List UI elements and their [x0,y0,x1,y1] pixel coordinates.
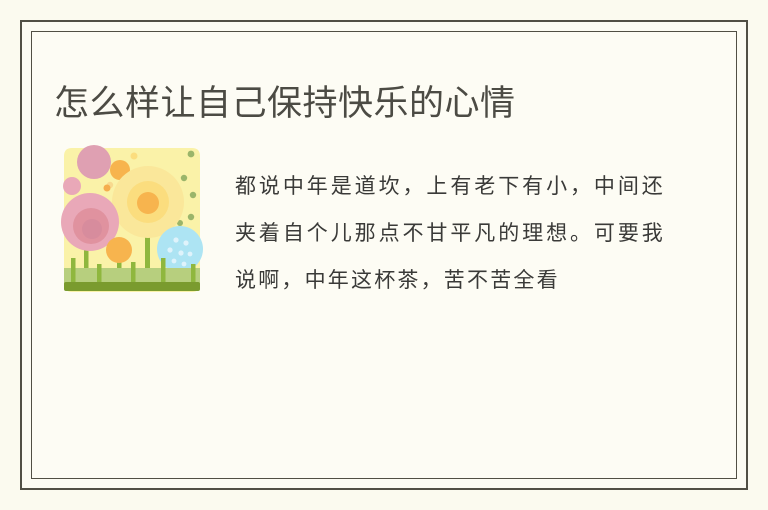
inner-border-frame: 怎么样让自己保持快乐的心情 [31,31,737,479]
outer-border-frame: 怎么样让自己保持快乐的心情 [20,20,748,490]
article-page: 怎么样让自己保持快乐的心情 [0,0,768,510]
page-title: 怎么样让自己保持快乐的心情 [54,85,516,124]
content-bottom-spacer [32,358,736,478]
flower-field-illustration [60,144,212,307]
article-content: 怎么样让自己保持快乐的心情 [32,32,736,478]
flower-field-icon [60,144,212,307]
article-body-text: 都说中年是道坎，上有老下有小，中间还夹着自个儿那点不甘平凡的理想。可要我说啊，中… [235,163,665,304]
